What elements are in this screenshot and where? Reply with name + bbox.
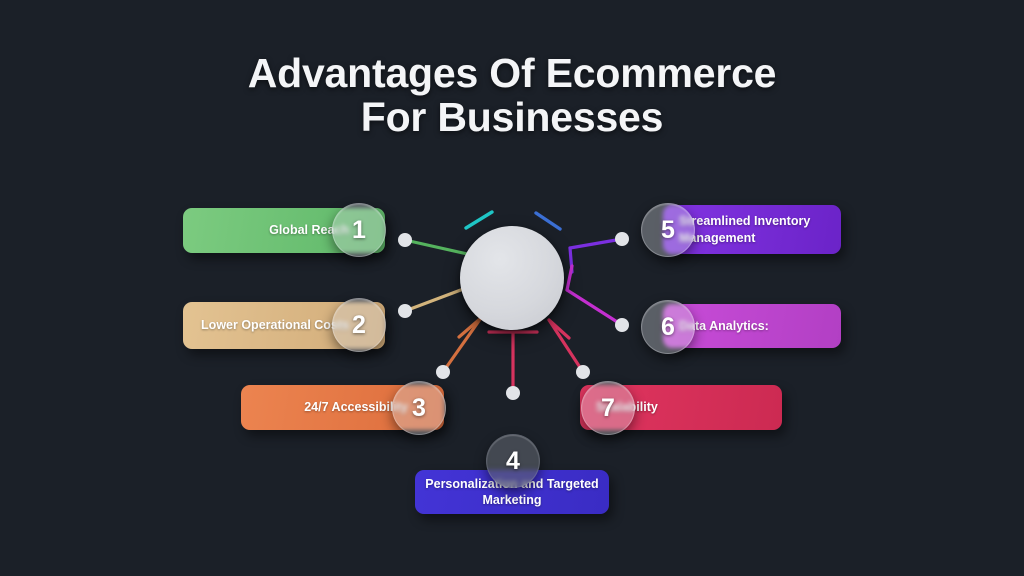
item-number-badge-4[interactable]: 4 (486, 434, 540, 488)
title-line-1: Advantages Of Ecommerce (0, 52, 1024, 96)
node-dot-7 (576, 365, 590, 379)
page-title: Advantages Of Ecommerce For Businesses (0, 52, 1024, 140)
item-number-badge-1[interactable]: 1 (332, 203, 386, 257)
spoke-crossbar-3 (459, 318, 481, 337)
node-dot-4 (506, 386, 520, 400)
spoke-stem-7 (549, 320, 583, 372)
spoke-stem-5 (570, 239, 622, 248)
spoke-stem-6 (567, 290, 622, 325)
spoke-crossbar-7 (549, 320, 569, 338)
infographic-canvas: Advantages Of Ecommerce For Businesses G… (0, 0, 1024, 576)
center-hub (460, 226, 564, 330)
arc-top-right (536, 213, 560, 229)
item-number-badge-2[interactable]: 2 (332, 298, 386, 352)
item-number-badge-7[interactable]: 7 (581, 381, 635, 435)
arc-top-left (466, 212, 492, 228)
node-dot-3 (436, 365, 450, 379)
node-dot-1 (398, 233, 412, 247)
title-line-2: For Businesses (0, 96, 1024, 140)
spoke-stem-1 (405, 240, 472, 255)
node-dot-5 (615, 232, 629, 246)
spoke-crossbar-6 (567, 266, 572, 290)
spoke-stem-3 (443, 318, 481, 372)
item-number-badge-3[interactable]: 3 (392, 381, 446, 435)
spoke-stem-2 (405, 288, 466, 311)
spoke-crossbar-5 (570, 248, 572, 272)
item-number-badge-5[interactable]: 5 (641, 203, 695, 257)
node-dot-2 (398, 304, 412, 318)
node-dot-6 (615, 318, 629, 332)
item-number-badge-6[interactable]: 6 (641, 300, 695, 354)
